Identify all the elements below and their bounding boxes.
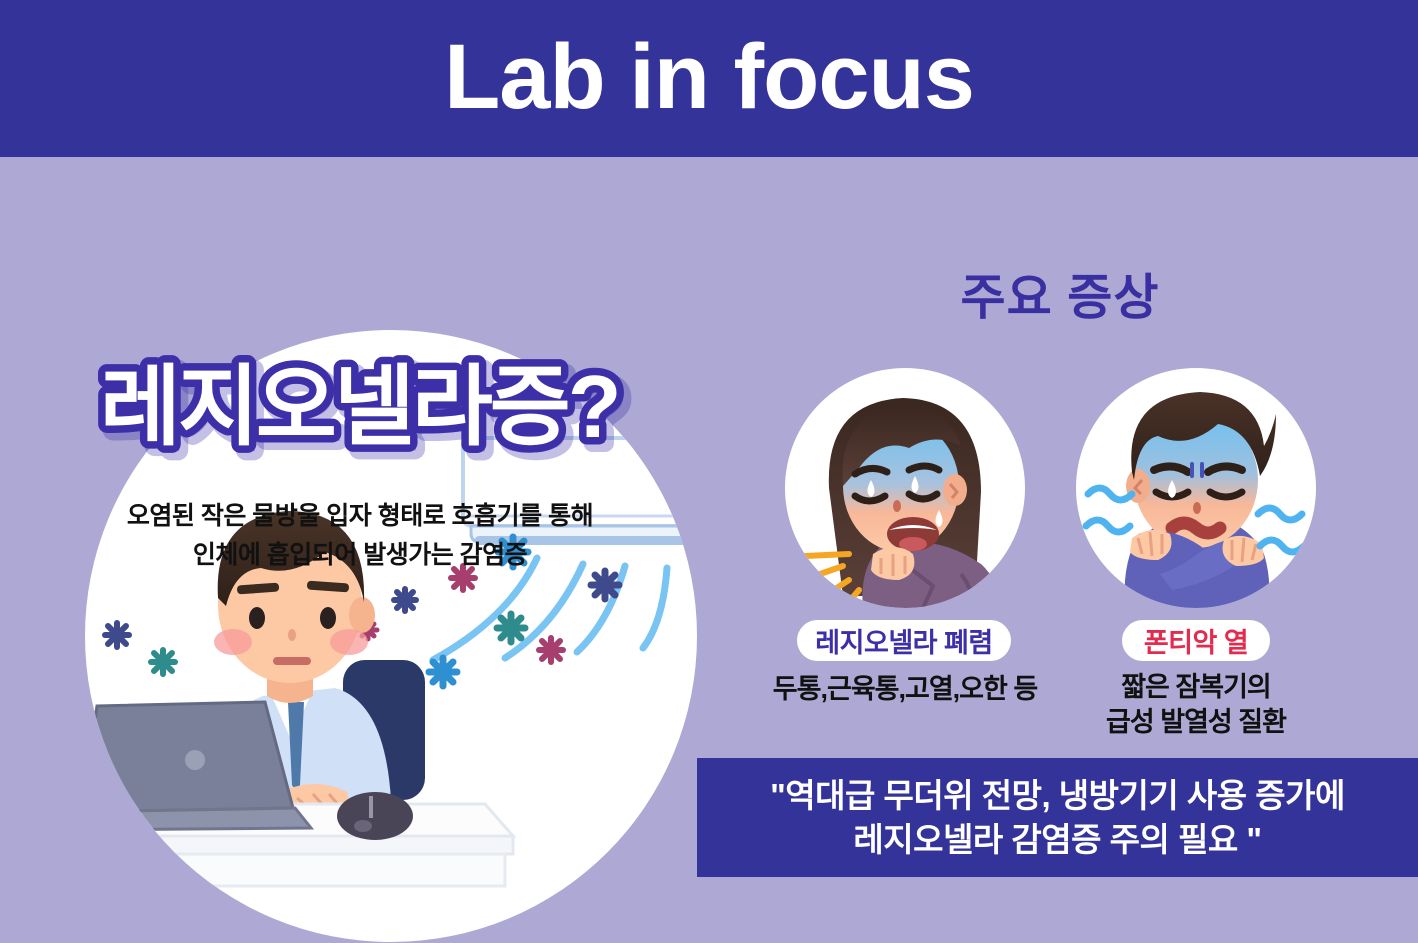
shivering-man-icon (1076, 368, 1316, 608)
disease-description-line-2: 인체에 흡입되어 발생가는 감염증 (60, 536, 660, 575)
symptoms-heading: 주요 증상 (860, 258, 1260, 329)
mouse-icon (337, 792, 413, 840)
symptom-card-pontiac: 폰티악 열 짧은 잠복기의 급성 발열성 질환 (1076, 368, 1316, 708)
symptom-label-pneumonia: 레지오넬라 폐렴 (797, 620, 1011, 661)
page-title: Lab in focus (444, 31, 974, 123)
quote-text: "역대급 무더위 전망, 냉방기기 사용 증가에 레지오넬라 감염증 주의 필요… (770, 774, 1345, 862)
quote-banner: "역대급 무더위 전망, 냉방기기 사용 증가에 레지오넬라 감염증 주의 필요… (697, 758, 1418, 877)
coughing-woman-icon (785, 368, 1025, 608)
symptom-description-pneumonia: 두통,근육통,고열,오한 등 (755, 672, 1055, 707)
left-panel: 레지오넬라증? 레지오넬라증? 오염된 작은 물방울 입자 형태로 호흡기를 통… (0, 157, 700, 943)
symptom-label-pontiac: 폰티악 열 (1122, 620, 1270, 661)
disease-description-line-1: 오염된 작은 물방울 입자 형태로 호흡기를 통해 (60, 497, 660, 536)
symptom-label-pontiac-text: 폰티악 열 (1144, 621, 1248, 660)
disease-title-wrap: 레지오넬라증? 레지오넬라증? (80, 345, 720, 475)
symptom-card-pneumonia: 레지오넬라 폐렴 두통,근육통,고열,오한 등 (785, 368, 1025, 708)
disease-description: 오염된 작은 물방울 입자 형태로 호흡기를 통해 인체에 흡입되어 발생가는 … (60, 497, 660, 575)
symptom-label-pneumonia-text: 레지오넬라 폐렴 (815, 621, 992, 660)
header-band: Lab in focus (0, 0, 1418, 157)
disease-title: 레지오넬라증? (100, 357, 619, 456)
symptom-description-pontiac: 짧은 잠복기의 급성 발열성 질환 (1046, 670, 1346, 740)
poster-root: Lab in focus (0, 0, 1418, 943)
shivering-man-circle (1076, 368, 1316, 608)
coughing-woman-circle (785, 368, 1025, 608)
